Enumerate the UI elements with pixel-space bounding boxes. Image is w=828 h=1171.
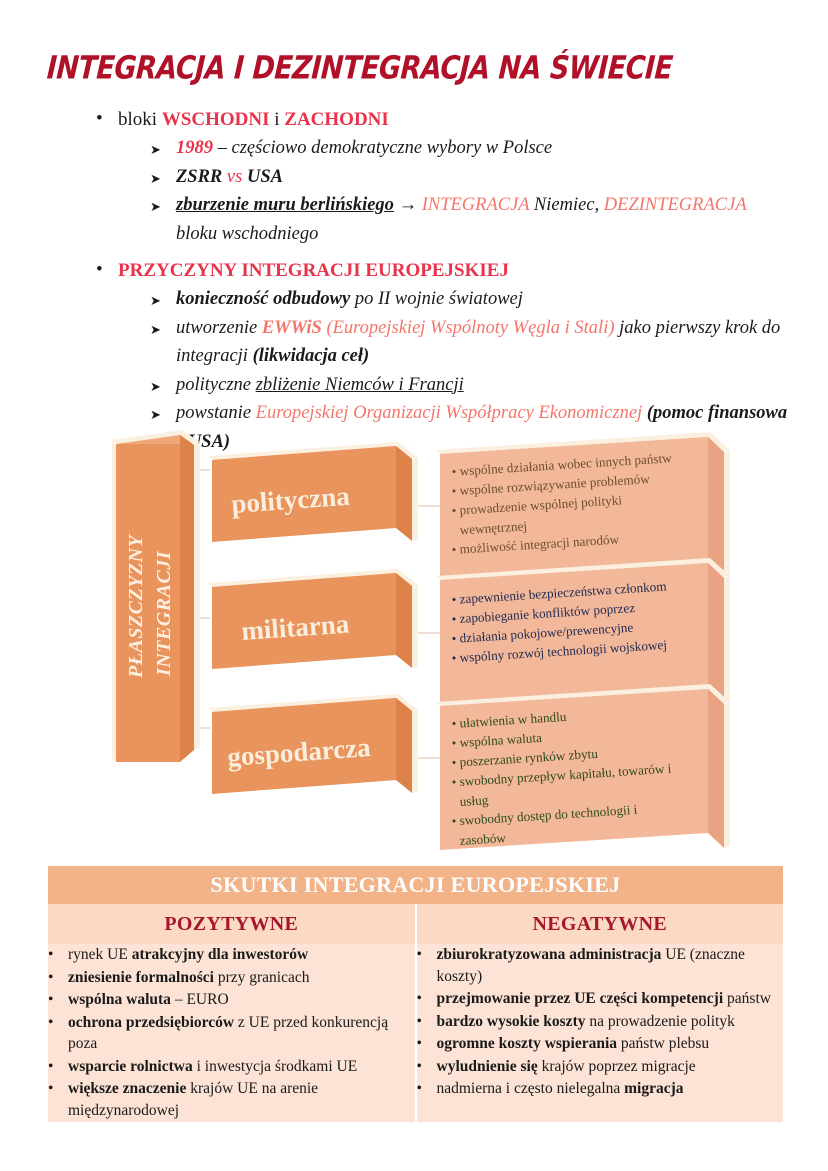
note-text: i (270, 109, 285, 130)
list-item: •wsparcie rolnictwa i inwestycja środkam… (48, 1056, 415, 1078)
note-text: – częściowo demokratyczne wybory w Polsc… (213, 138, 552, 158)
list-item-text: przejmowanie przez UE części kompetencji (437, 990, 724, 1007)
list-item: •nadmierna i często nielegalna migracja (417, 1078, 784, 1100)
note-text: → (394, 195, 422, 215)
list-item-text: atrakcyjny dla inwestorów (132, 946, 309, 963)
note-bullet-level2: zburzenie muru berlińskiego → INTEGRACJA… (150, 191, 790, 248)
list-item: •wyludnienie się krajów poprzez migracje (417, 1056, 784, 1078)
notes-section: bloki WSCHODNI i ZACHODNI1989 – częściow… (0, 105, 828, 456)
list-item-text: przy granicach (214, 969, 310, 986)
note-text: DEZINTEGRACJA (604, 195, 747, 215)
list-item-text: większe znaczenie (68, 1080, 186, 1097)
note-text: (Europejskiej Wspólnoty Węgla i Stali) (322, 318, 615, 338)
note-spacer (0, 248, 828, 256)
spine-label-line2: INTEGRACJI (153, 550, 175, 677)
bullet-icon: • (48, 944, 68, 966)
content-box-bullet: usług (459, 792, 489, 809)
list-item-text: krajów poprzez migracje (538, 1058, 696, 1075)
positive-list: •rynek UE atrakcyjny dla inwestorów•znie… (48, 944, 415, 1121)
list-item-text: bardzo wysokie koszty (437, 1013, 586, 1030)
effects-table: SKUTKI INTEGRACJI EUROPEJSKIEJ POZYTYWNE… (48, 866, 783, 1122)
table-col-positive: POZYTYWNE (48, 904, 416, 944)
note-text: Niemiec, (529, 195, 604, 215)
note-text: zburzenie muru berlińskiego (176, 195, 394, 215)
list-item-text: migracja (624, 1080, 683, 1097)
list-item: •bardzo wysokie koszty na prowadzenie po… (417, 1011, 784, 1033)
spine-block: PŁASZCZYZNY INTEGRACJI (112, 430, 200, 762)
list-item-text: nadmierna i często nielegalna (437, 1080, 625, 1097)
note-text: WSCHODNI (162, 109, 270, 130)
note-bullet-level1: PRZYCZYNY INTEGRACJI EUROPEJSKIEJ (96, 256, 828, 285)
list-item-text: na prowadzenie polityk (585, 1013, 734, 1030)
list-item-text: ochrona przedsiębiorców (68, 1014, 234, 1031)
note-text: USA (247, 167, 283, 187)
bullet-icon: • (48, 967, 68, 989)
list-item-text: zbiurokratyzowana administracja (437, 946, 662, 963)
integration-planes-diagram: .face { fill:#E8945C; } .topf { fill:#F0… (0, 428, 828, 868)
note-bullet-level1: bloki WSCHODNI i ZACHODNI (96, 105, 828, 134)
list-item-text: zniesienie formalności (68, 969, 214, 986)
bullet-icon: • (48, 1012, 68, 1034)
note-text: EWWiS (262, 318, 322, 338)
note-text: bloku wschodniego (176, 224, 318, 244)
table-cell-positive: •rynek UE atrakcyjny dla inwestorów•znie… (48, 944, 416, 1122)
content-box-bullet: zasobów (459, 830, 506, 848)
content-box-militarna: • zapewnienie bezpieczeństwa członkom• z… (436, 558, 730, 704)
bullet-icon: • (417, 944, 437, 966)
branch-block-gospodarcza: gospodarcza (208, 694, 418, 794)
table-col-negative: NEGATYWNE (416, 904, 784, 944)
note-bullet-level2: 1989 – częściowo demokratyczne wybory w … (150, 134, 790, 163)
note-text: ZACHODNI (284, 109, 389, 130)
bullet-icon: • (417, 1078, 437, 1100)
negative-list: •zbiurokratyzowana administracja UE (zna… (417, 944, 784, 1100)
note-text: bloki (118, 109, 162, 130)
list-item: •większe znaczenie krajów UE na arenie m… (48, 1078, 415, 1121)
bullet-icon: • (48, 1078, 68, 1100)
branch-block-militarna: militarna (208, 569, 418, 669)
list-item-text: i inwestycja środkami UE (193, 1058, 357, 1075)
bullet-icon: • (417, 1056, 437, 1078)
list-item: •zbiurokratyzowana administracja UE (zna… (417, 944, 784, 987)
list-item-text: wyludnienie się (437, 1058, 538, 1075)
note-bullet-level2: utworzenie EWWiS (Europejskiej Wspólnoty… (150, 314, 790, 371)
list-item-text: wsparcie rolnictwa (68, 1058, 193, 1075)
note-text: Europejskiej Organizacji Współpracy Ekon… (256, 403, 643, 423)
list-item: •rynek UE atrakcyjny dla inwestorów (48, 944, 415, 966)
note-text: polityczne (176, 375, 256, 395)
bullet-icon: • (48, 1056, 68, 1078)
note-text: vs (222, 167, 247, 187)
note-text: utworzenie (176, 318, 262, 338)
table-title: SKUTKI INTEGRACJI EUROPEJSKIEJ (48, 866, 783, 904)
table-title-row: SKUTKI INTEGRACJI EUROPEJSKIEJ (48, 866, 783, 904)
list-item-text: wspólna waluta (68, 991, 171, 1008)
content-box-polityczna: • wspólne działania wobec innych państw•… (436, 432, 730, 578)
list-item-text: państw plebsu (617, 1035, 709, 1052)
list-item: •przejmowanie przez UE części kompetencj… (417, 988, 784, 1010)
list-item: •zniesienie formalności przy granicach (48, 967, 415, 989)
content-box-gospodarcza: • ułatwienia w handlu• wspólna waluta• p… (436, 684, 730, 850)
bullet-icon: • (417, 1033, 437, 1055)
list-item: •ogromne koszty wspierania państw plebsu (417, 1033, 784, 1055)
spine-label-line1: PŁASZCZYZNY (125, 533, 147, 679)
table-subheader-row: POZYTYWNE NEGATYWNE (48, 904, 783, 944)
branch-block-polityczna: polityczna (208, 442, 418, 542)
list-item: •ochrona przedsiębiorców z UE przed konk… (48, 1012, 415, 1055)
bullet-icon: • (417, 1011, 437, 1033)
bullet-icon: • (48, 989, 68, 1011)
note-text: konieczność odbudowy (176, 289, 350, 309)
note-bullet-level2: konieczność odbudowy po II wojnie świato… (150, 285, 790, 314)
list-item-text: – EURO (171, 991, 229, 1008)
list-item-text: ogromne koszty wspierania (437, 1035, 618, 1052)
list-item: •wspólna waluta – EURO (48, 989, 415, 1011)
note-text: (likwidacja ceł) (253, 346, 370, 366)
note-bullet-level2: polityczne zbliżenie Niemców i Francji (150, 371, 790, 400)
note-text: PRZYCZYNY INTEGRACJI EUROPEJSKIEJ (118, 260, 509, 281)
note-text: zbliżenie Niemców i Francji (256, 375, 464, 395)
note-bullet-level2: ZSRR vs USA (150, 163, 790, 192)
note-text: ZSRR (176, 167, 222, 187)
list-item-text: rynek UE (68, 946, 132, 963)
note-text: INTEGRACJA (422, 195, 530, 215)
bullet-icon: • (417, 988, 437, 1010)
note-text: powstanie (176, 403, 256, 423)
note-text: 1989 (176, 138, 213, 158)
list-item-text: państw (723, 990, 771, 1007)
table-body-row: •rynek UE atrakcyjny dla inwestorów•znie… (48, 944, 783, 1122)
table-cell-negative: •zbiurokratyzowana administracja UE (zna… (416, 944, 784, 1122)
page-title: INTEGRACJA I DEZINTEGRACJA NA ŚWIECIE (46, 50, 674, 87)
note-text: po II wojnie światowej (350, 289, 523, 309)
